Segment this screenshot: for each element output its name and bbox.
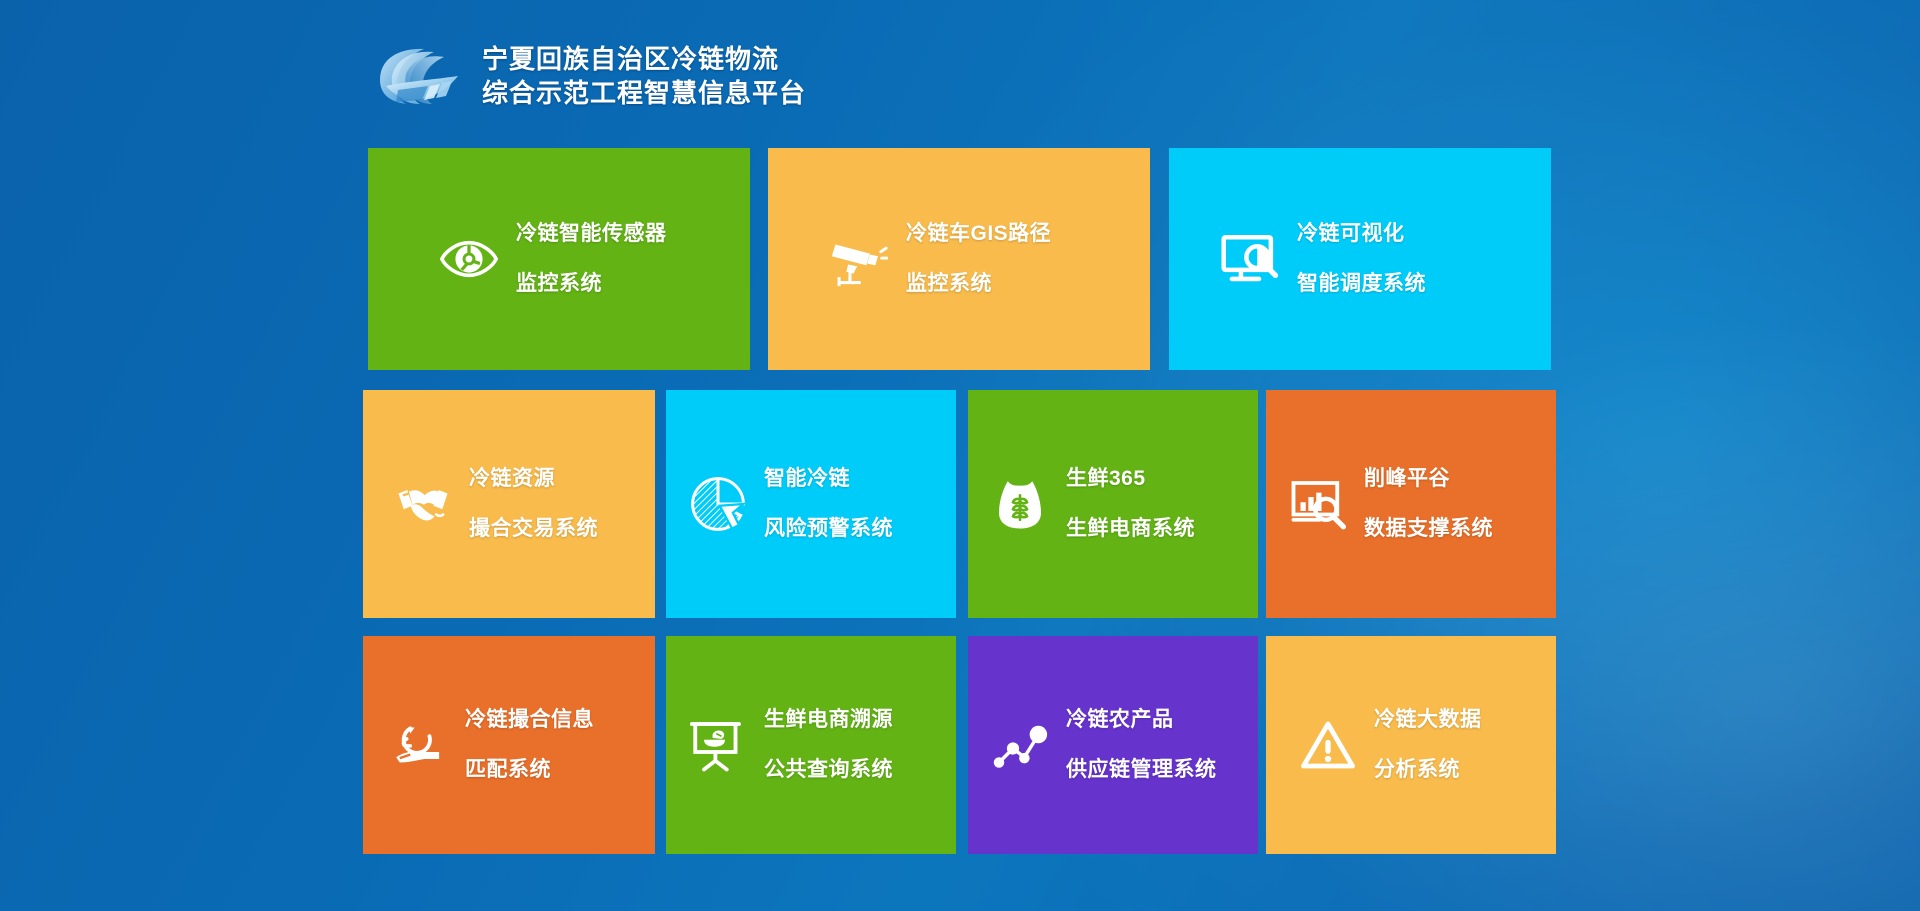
tile-line-1: 冷链可视化: [1297, 222, 1426, 246]
tile-cold-chain-agri-supply-chain[interactable]: 冷链农产品 供应链管理系统: [968, 636, 1258, 854]
bar-chart-search-icon: [1290, 476, 1346, 532]
swirl-feather-logo: [368, 46, 464, 108]
presentation-bowl-icon: [690, 717, 746, 773]
tile-line-2: 撮合交易系统: [469, 517, 598, 541]
hand-circle-icon: [391, 717, 447, 773]
platform-header: 宁夏回族自治区冷链物流 综合示范工程智慧信息平台: [368, 44, 806, 109]
tile-fresh-ecommerce-traceability[interactable]: 生鲜电商溯源 公共查询系统: [666, 636, 956, 854]
tile-line-1: 冷链智能传感器: [516, 222, 667, 246]
tile-cold-chain-smart-sensor[interactable]: 冷链智能传感器 监控系统: [368, 148, 750, 370]
tile-line-2: 公共查询系统: [764, 758, 893, 782]
grain-sack-icon: [992, 476, 1048, 532]
tile-line-2: 数据支撑系统: [1364, 517, 1493, 541]
tile-peak-shaving-data-support[interactable]: 削峰平谷 数据支撑系统: [1266, 390, 1556, 618]
app-background: 宁夏回族自治区冷链物流 综合示范工程智慧信息平台 冷链智能传感器 监控系统: [0, 0, 1920, 911]
title-line-2: 综合示范工程智慧信息平台: [482, 78, 806, 110]
tile-line-1: 冷链资源: [469, 467, 598, 491]
tile-line-1: 冷链撮合信息: [465, 708, 594, 732]
tile-cold-chain-vehicle-gis-route[interactable]: 冷链车GIS路径 监控系统: [768, 148, 1150, 370]
tile-line-2: 智能调度系统: [1297, 272, 1426, 296]
pie-chart-cursor-icon: [690, 476, 746, 532]
tile-cold-chain-resource-trading[interactable]: 冷链资源 撮合交易系统: [363, 390, 655, 618]
tile-line-1: 冷链大数据: [1374, 708, 1482, 732]
tile-smart-cold-chain-risk-alert[interactable]: 智能冷链 风险预警系统: [666, 390, 956, 618]
tile-line-1: 冷链农产品: [1066, 708, 1217, 732]
tile-line-2: 风险预警系统: [764, 517, 893, 541]
sensor-eye-icon: [440, 230, 498, 288]
tile-line-1: 生鲜电商溯源: [764, 708, 893, 732]
tile-fresh-365-ecommerce[interactable]: 生鲜365 生鲜电商系统: [968, 390, 1258, 618]
tile-line-2: 监控系统: [906, 272, 1051, 296]
tile-line-1: 智能冷链: [764, 467, 893, 491]
title-line-1: 宁夏回族自治区冷链物流: [482, 44, 806, 76]
tile-line-1: 生鲜365: [1066, 467, 1195, 491]
warning-triangle-icon: [1300, 717, 1356, 773]
tile-line-2: 监控系统: [516, 272, 667, 296]
handshake-icon: [395, 476, 451, 532]
tile-line-2: 供应链管理系统: [1066, 758, 1217, 782]
monitor-search-icon: [1221, 230, 1279, 288]
tile-cold-chain-visualization[interactable]: 冷链可视化 智能调度系统: [1169, 148, 1551, 370]
tile-line-2: 分析系统: [1374, 758, 1482, 782]
tile-line-1: 削峰平谷: [1364, 467, 1493, 491]
cctv-camera-icon: [830, 230, 888, 288]
tile-line-1: 冷链车GIS路径: [906, 222, 1051, 246]
tile-cold-chain-big-data-analysis[interactable]: 冷链大数据 分析系统: [1266, 636, 1556, 854]
tile-cold-chain-matching-info[interactable]: 冷链撮合信息 匹配系统: [363, 636, 655, 854]
node-network-icon: [992, 717, 1048, 773]
tile-line-2: 匹配系统: [465, 758, 594, 782]
tile-line-2: 生鲜电商系统: [1066, 517, 1195, 541]
platform-title: 宁夏回族自治区冷链物流 综合示范工程智慧信息平台: [482, 44, 806, 109]
